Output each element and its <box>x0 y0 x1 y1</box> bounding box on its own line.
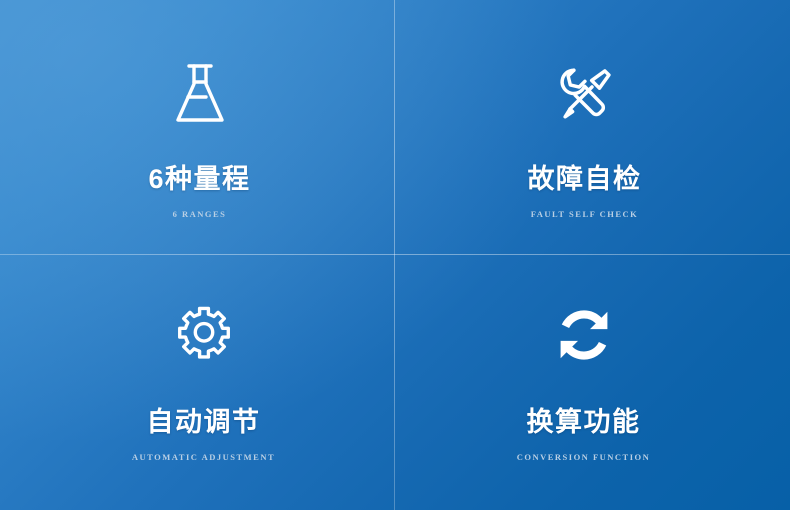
refresh-sync-icon <box>548 299 620 371</box>
feature-cells: 6种量程 6 RANGES 故障自检 <box>0 0 790 510</box>
flask-icon <box>164 58 236 130</box>
feature-card-conversion-function[interactable]: 换算功能 CONVERSION FUNCTION <box>395 255 790 510</box>
wrench-screwdriver-icon <box>549 58 621 130</box>
feature-card-automatic-adjustment[interactable]: 自动调节 AUTOMATIC ADJUSTMENT <box>0 255 395 510</box>
feature-title: 自动调节 <box>147 409 261 436</box>
feature-subtitle: 6 RANGES <box>173 210 227 219</box>
feature-subtitle: FAULT SELF CHECK <box>531 210 639 219</box>
feature-card-fault-self-check[interactable]: 故障自检 FAULT SELF CHECK <box>395 0 790 255</box>
feature-title: 6种量程 <box>148 166 250 193</box>
feature-subtitle: CONVERSION FUNCTION <box>517 453 651 462</box>
feature-title: 换算功能 <box>527 409 641 436</box>
feature-subtitle: AUTOMATIC ADJUSTMENT <box>132 453 275 462</box>
feature-grid: 6种量程 6 RANGES 故障自检 <box>0 0 790 510</box>
gear-icon <box>168 299 240 371</box>
feature-title: 故障自检 <box>528 166 642 193</box>
feature-card-6-ranges[interactable]: 6种量程 6 RANGES <box>0 0 395 255</box>
